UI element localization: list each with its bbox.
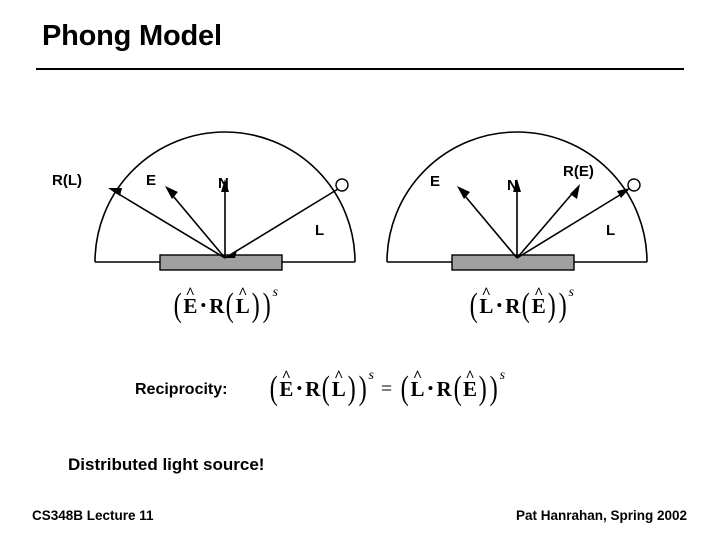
recip-left-func: R bbox=[305, 377, 320, 402]
formula-right-exponent: s bbox=[568, 285, 573, 301]
label-right-n: N bbox=[507, 177, 518, 194]
paren-close-2: ) bbox=[490, 375, 498, 404]
hat-accent: ^ bbox=[186, 285, 195, 303]
formula-reciprocity: (^E•R(^L))s=(^L•R(^E))s bbox=[268, 375, 505, 404]
paren-open: ( bbox=[470, 292, 478, 321]
hat-accent: ^ bbox=[534, 285, 543, 303]
recip-right-var1: ^L bbox=[411, 377, 425, 402]
paren-close-inner: ) bbox=[251, 292, 259, 321]
paren-open-inner: ( bbox=[522, 292, 530, 321]
footer-lecture: CS348B Lecture 11 bbox=[32, 508, 154, 523]
formula-left-func: R bbox=[209, 294, 224, 319]
paren-close-inner: ) bbox=[547, 292, 555, 321]
hat-accent: ^ bbox=[465, 368, 474, 386]
hat-accent: ^ bbox=[413, 368, 422, 386]
recip-left-exponent: s bbox=[368, 368, 373, 384]
slide: Phong Model R(L) E N L bbox=[0, 0, 720, 540]
label-right-l: L bbox=[606, 222, 615, 239]
paren-open-inner: ( bbox=[226, 292, 234, 321]
page-title: Phong Model bbox=[42, 20, 222, 53]
recip-left-var2: ^L bbox=[332, 377, 346, 402]
formula-left-var1: ^E bbox=[183, 294, 197, 319]
hat-accent: ^ bbox=[334, 368, 343, 386]
dot-operator: • bbox=[293, 379, 305, 399]
paren-close-inner: ) bbox=[347, 375, 355, 404]
dot-operator: • bbox=[197, 296, 209, 316]
recip-right-func: R bbox=[437, 377, 452, 402]
formula-left: (^E•R(^L))s bbox=[172, 292, 278, 321]
recip-left-var1: ^E bbox=[279, 377, 293, 402]
label-right-e: E bbox=[430, 173, 440, 190]
dot-operator: • bbox=[493, 296, 505, 316]
recip-right-var2: ^E bbox=[463, 377, 477, 402]
paren-open: ( bbox=[174, 292, 182, 321]
formula-right-var1: ^L bbox=[479, 294, 493, 319]
recip-right-exponent: s bbox=[500, 368, 505, 384]
paren-close-inner-2: ) bbox=[479, 375, 487, 404]
hat-accent: ^ bbox=[482, 285, 491, 303]
label-left-rl: R(L) bbox=[52, 172, 82, 189]
paren-open-2: ( bbox=[401, 375, 409, 404]
label-left-e: E bbox=[146, 172, 156, 189]
paren-close: ) bbox=[559, 292, 567, 321]
hat-accent: ^ bbox=[282, 368, 291, 386]
distributed-note: Distributed light source! bbox=[68, 455, 264, 475]
reciprocity-label: Reciprocity: bbox=[135, 381, 227, 399]
formula-left-exponent: s bbox=[272, 285, 277, 301]
hat-accent: ^ bbox=[238, 285, 247, 303]
footer-author: Pat Hanrahan, Spring 2002 bbox=[516, 508, 687, 523]
formula-right: (^L•R(^E))s bbox=[468, 292, 574, 321]
title-divider bbox=[36, 68, 684, 70]
formula-right-func: R bbox=[505, 294, 520, 319]
label-left-l: L bbox=[315, 222, 324, 239]
paren-close: ) bbox=[263, 292, 271, 321]
paren-close: ) bbox=[359, 375, 367, 404]
paren-open-inner: ( bbox=[322, 375, 330, 404]
equals-sign: = bbox=[374, 378, 399, 401]
dot-operator-2: • bbox=[425, 379, 437, 399]
paren-open-inner-2: ( bbox=[453, 375, 461, 404]
label-left-n: N bbox=[218, 175, 229, 192]
formula-left-var2: ^L bbox=[236, 294, 250, 319]
label-right-re: R(E) bbox=[563, 163, 594, 180]
paren-open: ( bbox=[270, 375, 278, 404]
formula-right-var2: ^E bbox=[532, 294, 546, 319]
